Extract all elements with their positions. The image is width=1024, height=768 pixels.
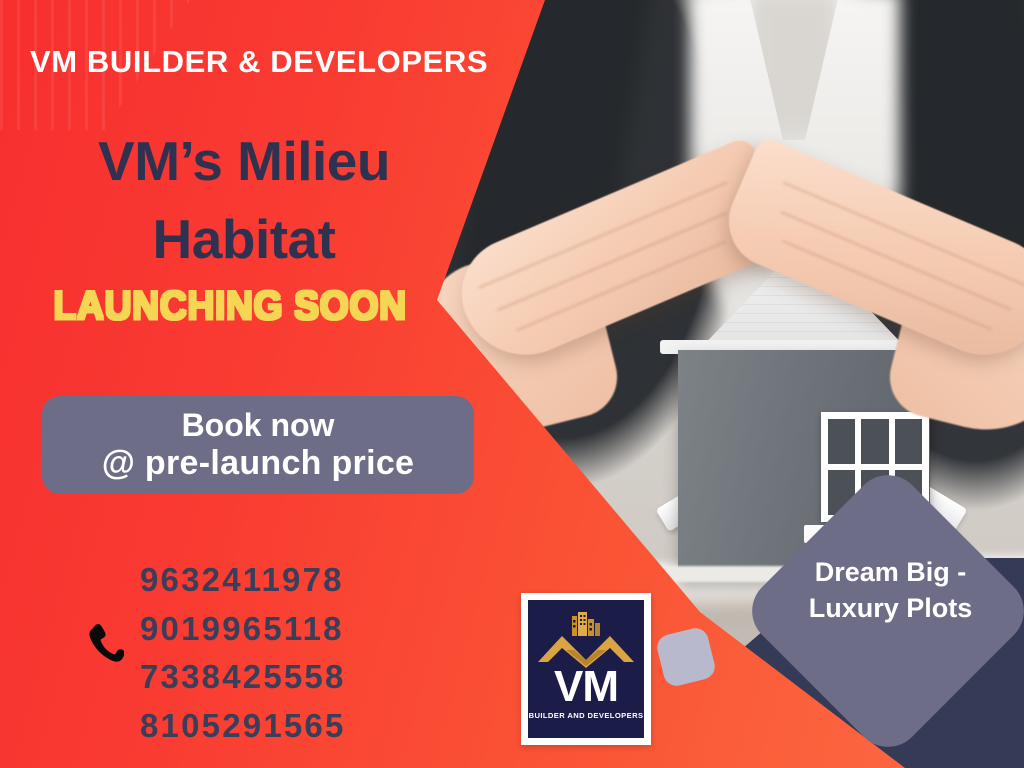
phone-number[interactable]: 8105291565 — [140, 702, 440, 751]
project-title-line-1: VM’s Milieu — [34, 122, 454, 200]
window-pane — [895, 419, 922, 464]
logo-roof-building-icon — [536, 610, 636, 668]
phone-number[interactable]: 9632411978 — [140, 556, 440, 605]
logo-initials: VM — [554, 666, 618, 708]
project-title-line-2: Habitat — [34, 200, 454, 278]
real-estate-advertisement-poster: VM BUILDER & DEVELOPERS VM’s Milieu Habi… — [0, 0, 1024, 768]
logo-subtitle: BUILDER AND DEVELOPERS — [529, 711, 644, 720]
phone-number[interactable]: 7338425558 — [140, 653, 440, 702]
company-name-header: VM BUILDER & DEVELOPERS — [30, 44, 488, 80]
phone-number-list: 9632411978 9019965118 7338425558 8105291… — [140, 556, 440, 750]
tagline-text: Dream Big - Luxury Plots — [768, 555, 1013, 626]
status-badge: LAUNCHING SOON — [51, 284, 408, 329]
company-logo: VM BUILDER AND DEVELOPERS — [521, 593, 651, 745]
tagline-line-2: Luxury Plots — [768, 591, 1013, 627]
phone-number[interactable]: 9019965118 — [140, 605, 440, 654]
window-pane — [861, 419, 888, 464]
tagline-line-1: Dream Big - — [768, 555, 1013, 591]
cta-line-2: @ pre-launch price — [102, 444, 415, 483]
page-title: VM’s Milieu Habitat — [34, 122, 454, 278]
book-now-cta[interactable]: Book now @ pre-launch price — [42, 396, 474, 494]
phone-icon — [88, 622, 124, 666]
window-pane — [828, 419, 855, 464]
cta-line-1: Book now — [182, 407, 335, 444]
